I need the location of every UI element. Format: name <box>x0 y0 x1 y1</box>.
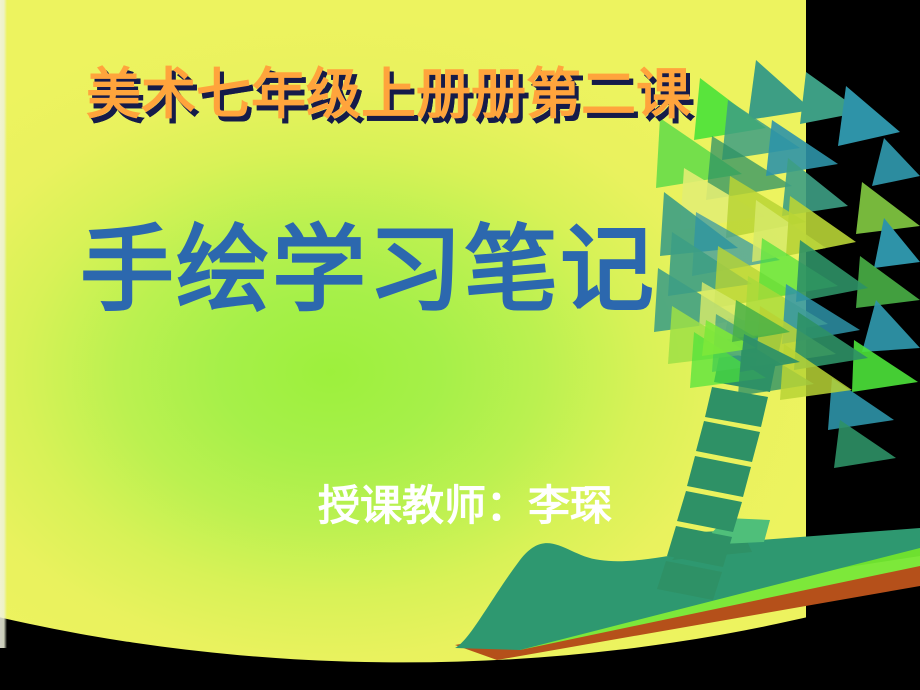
palm-fronds <box>654 60 920 468</box>
presentation-slide: 美术七年级上册册第二课 手绘学习笔记 授课教师：李琛 <box>0 0 920 690</box>
lesson-chapter-title: 美术七年级上册册第二课 <box>86 62 691 126</box>
teacher-credit-line: 授课教师：李琛 <box>318 480 612 532</box>
page-title: 手绘学习笔记 <box>80 215 656 327</box>
